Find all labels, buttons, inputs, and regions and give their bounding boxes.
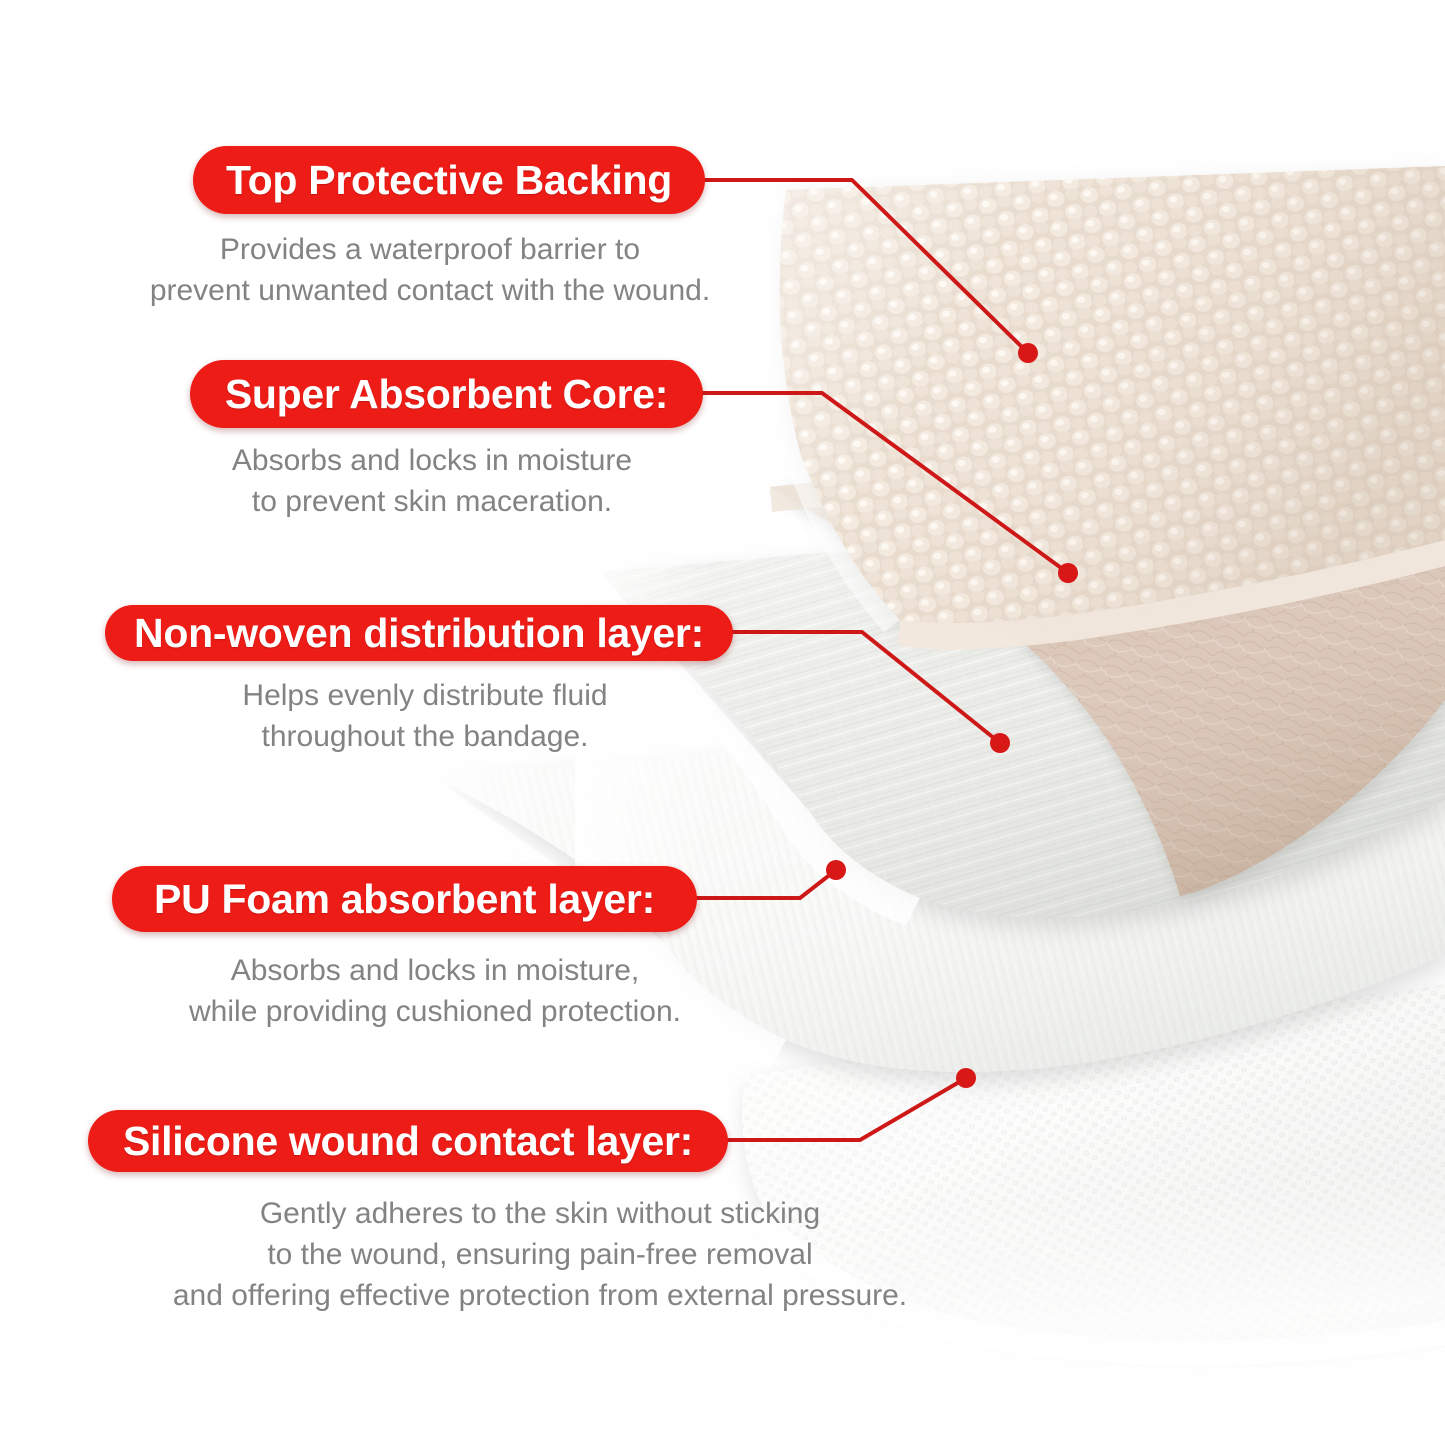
callout-pill-pu-foam-absorbent-layer[interactable]: PU Foam absorbent layer: <box>112 866 697 932</box>
callout-description-pu-foam-absorbent-layer: Absorbs and locks in moisture, while pro… <box>150 950 720 1032</box>
callout-pill-top-protective-backing[interactable]: Top Protective Backing <box>193 146 705 214</box>
callout-pill-silicone-wound-contact-layer[interactable]: Silicone wound contact layer: <box>88 1110 728 1172</box>
pointer-dot-non-woven <box>990 733 1010 753</box>
callout-description-non-woven-distribution-layer: Helps evenly distribute fluid throughout… <box>160 675 690 757</box>
infographic-canvas: Top Protective Backing Provides a waterp… <box>0 0 1445 1445</box>
layer-non-woven-distribution <box>575 500 1445 926</box>
callout-description-top-protective-backing: Provides a waterproof barrier to prevent… <box>140 229 720 311</box>
layer-top-protective-backing <box>764 166 1445 649</box>
pointer-dot-absorbent-core <box>1058 563 1078 583</box>
callout-description-silicone-wound-contact-layer: Gently adheres to the skin without stick… <box>120 1193 960 1316</box>
pointer-dot-silicone <box>956 1068 976 1088</box>
callout-description-super-absorbent-core: Absorbs and locks in moisture to prevent… <box>172 440 692 522</box>
callout-pill-non-woven-distribution-layer[interactable]: Non-woven distribution layer: <box>105 605 733 661</box>
layer-super-absorbent-core <box>770 418 1445 896</box>
callout-pill-super-absorbent-core[interactable]: Super Absorbent Core: <box>190 360 703 428</box>
pointer-dot-top-backing <box>1018 343 1038 363</box>
pointer-dot-pu-foam <box>826 860 846 880</box>
